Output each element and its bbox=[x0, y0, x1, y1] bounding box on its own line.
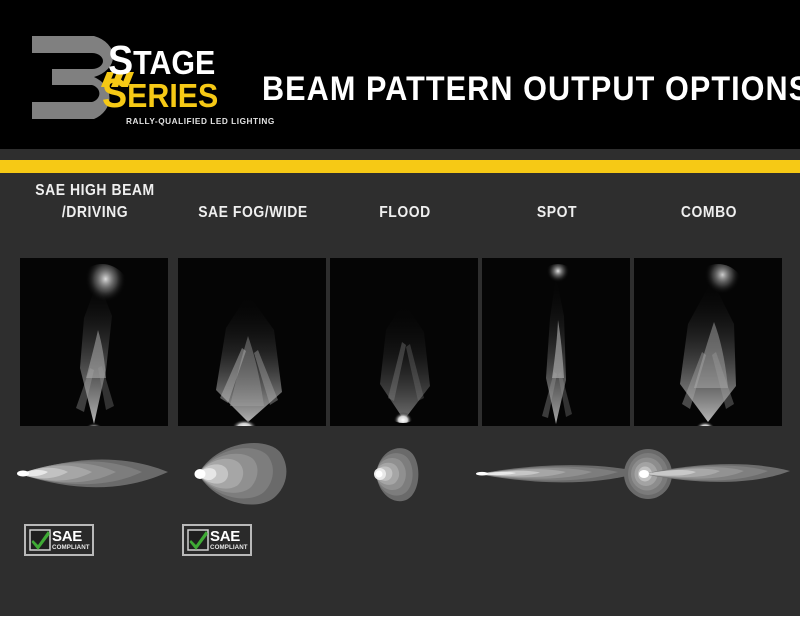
sae-badge-main: SAE bbox=[210, 529, 248, 544]
beam-photo-flood bbox=[330, 258, 478, 426]
column-sae-high-beam-driving: SAE HIGH BEAM /DRIVING bbox=[20, 180, 170, 600]
column-label: COMBO bbox=[631, 202, 788, 224]
logo-series-rest: ERIES bbox=[127, 77, 218, 114]
column-label: FLOOD bbox=[327, 202, 484, 224]
column-sae-fog-wide: SAE FOG/WIDE bbox=[178, 180, 328, 600]
beam-columns: SAE HIGH BEAM /DRIVING bbox=[0, 180, 800, 600]
column-spot: SPOT bbox=[482, 180, 632, 600]
beam-photo-combo bbox=[634, 258, 782, 426]
column-label: SAE HIGH BEAM /DRIVING bbox=[17, 180, 174, 224]
beam-pattern-infographic: STAGE SERIES RALLY-QUALIFIED LED LIGHTIN… bbox=[0, 0, 800, 622]
column-combo: COMBO bbox=[634, 180, 784, 600]
sae-compliant-badge: SAE COMPLIANT bbox=[182, 524, 252, 556]
yellow-divider bbox=[0, 160, 800, 173]
sae-badge-text: SAE COMPLIANT bbox=[210, 529, 248, 551]
sae-badge-text: SAE COMPLIANT bbox=[52, 529, 90, 551]
logo-wordmark: STAGE SERIES RALLY-QUALIFIED LED LIGHTIN… bbox=[108, 44, 250, 132]
logo-series-text: SERIES bbox=[102, 77, 218, 112]
page-title: BEAM PATTERN OUTPUT OPTIONS bbox=[262, 72, 739, 106]
diode-dynamics-stage-series-logo: STAGE SERIES RALLY-QUALIFIED LED LIGHTIN… bbox=[26, 26, 246, 130]
beam-photo-spot bbox=[482, 258, 630, 426]
header-bar: STAGE SERIES RALLY-QUALIFIED LED LIGHTIN… bbox=[0, 0, 800, 149]
column-label: SPOT bbox=[479, 202, 636, 224]
green-check-icon bbox=[187, 529, 209, 551]
beam-diagram-combo bbox=[618, 438, 800, 510]
beam-photo-sae-high-beam bbox=[20, 258, 168, 426]
beam-diagram-sae-high-beam bbox=[4, 438, 186, 510]
logo-stage-rest: TAGE bbox=[133, 44, 215, 81]
logo-tagline: RALLY-QUALIFIED LED LIGHTING bbox=[126, 116, 275, 126]
sae-compliant-badge: SAE COMPLIANT bbox=[24, 524, 94, 556]
sae-badge-sub: COMPLIANT bbox=[52, 545, 90, 551]
beam-photo-sae-fog-wide bbox=[178, 258, 326, 426]
bottom-edge bbox=[0, 616, 800, 622]
green-check-icon bbox=[29, 529, 51, 551]
column-flood: FLOOD bbox=[330, 180, 480, 600]
sae-badge-main: SAE bbox=[52, 529, 90, 544]
column-label: SAE FOG/WIDE bbox=[175, 202, 332, 224]
sae-badge-sub: COMPLIANT bbox=[210, 545, 248, 551]
